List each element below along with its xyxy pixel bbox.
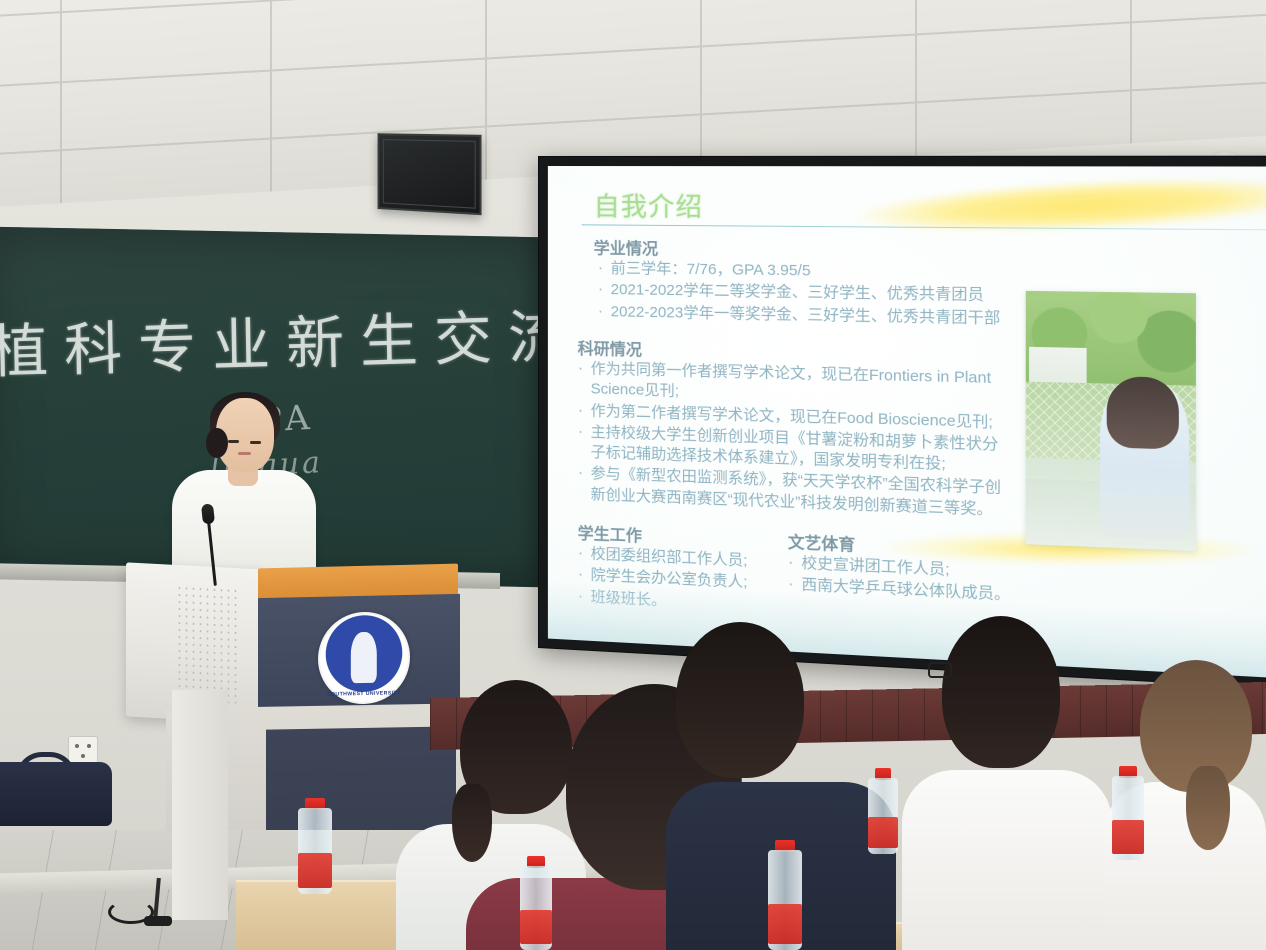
bottle-label [768, 904, 802, 944]
projection-screen: 自我介绍 学业情况 前三学年：7/76，GPA 3.95/5 2021-2022… [538, 156, 1266, 693]
lecture-room-scene: 植科专业新生交流会 GPA lingua 自我介绍 学业情况 前三学年：7/76… [0, 0, 1266, 950]
water-bottle[interactable] [520, 856, 552, 950]
podium-perforated-grille [176, 584, 238, 703]
slide-title: 自我介绍 [594, 186, 703, 224]
audience-member-body [902, 770, 1112, 950]
presenter-hair-tie [206, 428, 228, 458]
audience-member-head [942, 616, 1060, 768]
bullet-list-research: 作为共同第一作者撰写学术论文，现已在Frontiers in Plant Sci… [574, 359, 1013, 522]
ponytail [1186, 766, 1230, 850]
presenter-photo [1026, 291, 1196, 551]
section-heading-student-work: 学生工作 [578, 520, 642, 547]
water-bottle[interactable] [1112, 766, 1144, 860]
wall-outlet-icon [68, 736, 98, 764]
duffel-bag [0, 762, 112, 826]
bottle-label [1112, 820, 1144, 854]
section-heading-academics: 学业情况 [594, 234, 658, 259]
presenter-eye-left [228, 440, 239, 443]
presentation-slide: 自我介绍 学业情况 前三学年：7/76，GPA 3.95/5 2021-2022… [548, 166, 1266, 681]
screen-surface: 自我介绍 学业情况 前三学年：7/76，GPA 3.95/5 2021-2022… [548, 166, 1266, 681]
university-crest-icon: SOUTHWEST UNIVERSITY [318, 611, 410, 705]
audience-member-head [676, 622, 804, 778]
wall-speaker-icon [378, 133, 482, 215]
bullet-list-academics: 前三学年：7/76，GPA 3.95/5 2021-2022学年二等奖学金、三好… [594, 259, 1057, 332]
water-bottle[interactable] [768, 840, 802, 950]
section-heading-arts-sports: 文艺体育 [788, 528, 855, 556]
bottle-label [520, 910, 552, 944]
eyeglasses-icon [928, 662, 952, 678]
presenter-mouth [238, 452, 251, 455]
water-bottle[interactable] [868, 768, 898, 854]
bottle-label [868, 817, 898, 848]
water-bottle[interactable] [298, 798, 332, 894]
section-heading-research: 科研情况 [578, 335, 642, 361]
podium-microphone-icon [201, 503, 215, 524]
photo-person-hair [1107, 376, 1179, 450]
ponytail [452, 784, 492, 862]
bottle-label [298, 853, 332, 888]
floor-mic-base [144, 916, 172, 926]
presenter-eye-right [250, 441, 261, 444]
podium-pillar [172, 690, 228, 920]
